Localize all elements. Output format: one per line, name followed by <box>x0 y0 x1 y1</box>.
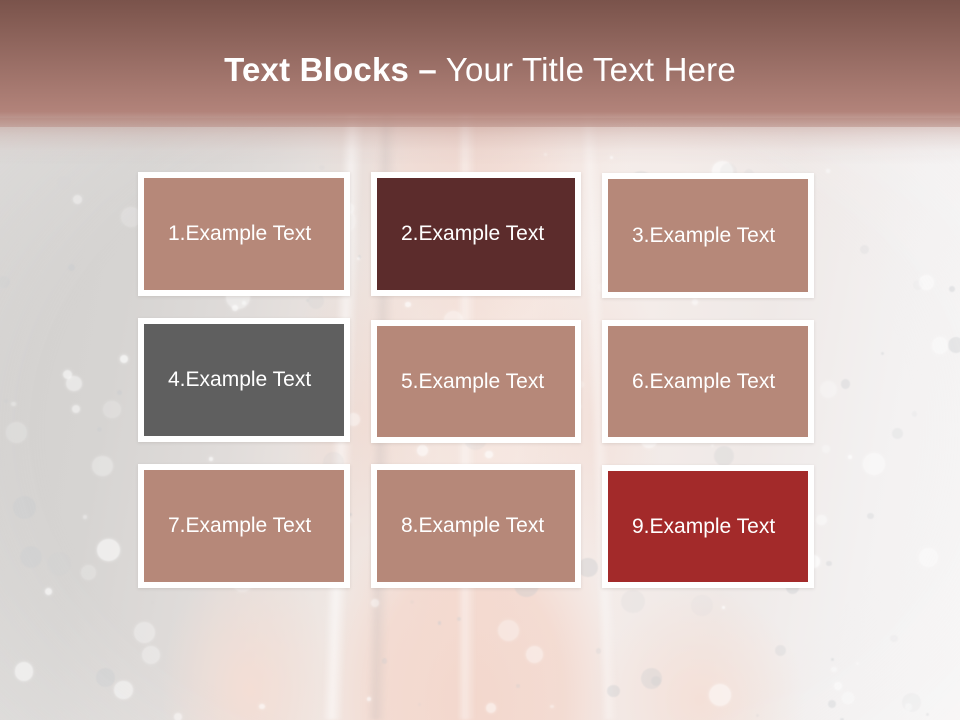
text-block-4-label: 4.Example Text <box>168 367 311 393</box>
text-block-1-label: 1.Example Text <box>168 221 311 247</box>
text-block-6[interactable]: 6.Example Text <box>602 320 814 443</box>
text-block-4[interactable]: 4.Example Text <box>138 318 350 442</box>
text-blocks-grid: 1.Example Text 2.Example Text 3.Example … <box>0 0 960 720</box>
text-block-9-label: 9.Example Text <box>632 514 775 540</box>
text-block-6-label: 6.Example Text <box>632 369 775 395</box>
text-block-2[interactable]: 2.Example Text <box>371 172 581 296</box>
text-block-7[interactable]: 7.Example Text <box>138 464 350 588</box>
text-block-3-label: 3.Example Text <box>632 223 775 249</box>
text-block-9[interactable]: 9.Example Text <box>602 465 814 588</box>
text-block-2-label: 2.Example Text <box>401 221 544 247</box>
text-block-3[interactable]: 3.Example Text <box>602 173 814 298</box>
text-block-8-label: 8.Example Text <box>401 513 544 539</box>
text-block-1[interactable]: 1.Example Text <box>138 172 350 296</box>
slide-canvas: Text Blocks – Your Title Text Here 1.Exa… <box>0 0 960 720</box>
text-block-7-label: 7.Example Text <box>168 513 311 539</box>
text-block-5-label: 5.Example Text <box>401 369 544 395</box>
text-block-5[interactable]: 5.Example Text <box>371 320 581 443</box>
text-block-8[interactable]: 8.Example Text <box>371 464 581 588</box>
